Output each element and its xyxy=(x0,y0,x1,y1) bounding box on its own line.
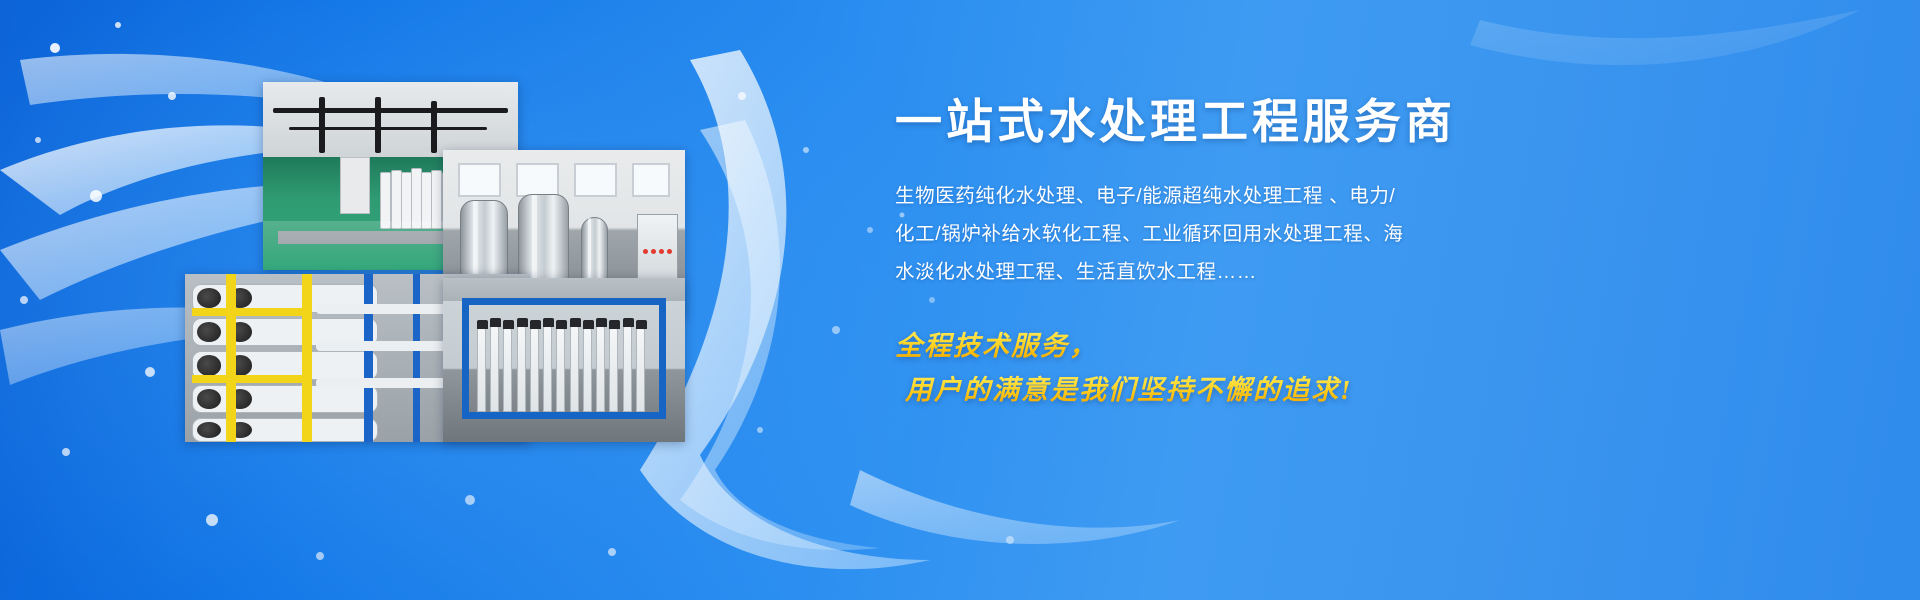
banner-description: 生物医药纯化水处理、电子/能源超纯水处理工程 、电力/ 化工/锅炉补给水软化工程… xyxy=(895,177,1495,292)
slogan-line-2: 用户的满意是我们坚持不懈的追求! xyxy=(895,369,1495,413)
banner-slogan: 全程技术服务， 用户的满意是我们坚持不懈的追求! xyxy=(895,325,1495,412)
description-line-1: 生物医药纯化水处理、电子/能源超纯水处理工程 、电力/ xyxy=(895,177,1495,215)
equipment-photo-gallery xyxy=(185,82,685,442)
banner-text-content: 一站式水处理工程服务商 生物医药纯化水处理、电子/能源超纯水处理工程 、电力/ … xyxy=(895,96,1495,413)
description-line-2: 化工/锅炉补给水软化工程、工业循环回用水处理工程、海 xyxy=(895,215,1495,253)
description-line-3: 水淡化水处理工程、生活直饮水工程…… xyxy=(895,253,1495,291)
slogan-line-1: 全程技术服务， xyxy=(895,325,1495,369)
banner-headline: 一站式水处理工程服务商 xyxy=(895,96,1495,149)
gallery-photo-blue-frame-uf-skid[interactable] xyxy=(443,278,685,442)
water-treatment-banner: 一站式水处理工程服务商 生物医药纯化水处理、电子/能源超纯水处理工程 、电力/ … xyxy=(0,0,1920,600)
